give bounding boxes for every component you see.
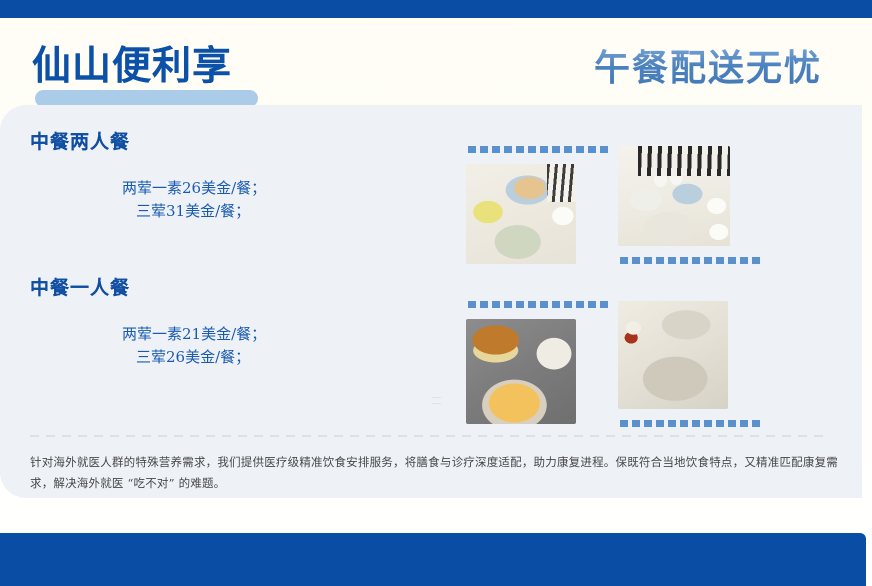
panel-content: 中餐两人餐 两荤一素26美金/餐； 三荤31美金/餐； 中餐一人餐 两荤一素21… [0,105,862,498]
photo-cell-3 [466,301,608,424]
dashed-accent-line [620,420,760,427]
price-line: 三荤26美金/餐； [122,346,266,369]
price-line: 三荤31美金/餐； [122,200,266,223]
brand-title: 仙山便利享 [32,40,232,92]
two-person-meal-photo-1 [466,164,576,264]
photo-cell-2 [618,146,760,264]
content-panel: 中餐两人餐 两荤一素26美金/餐； 三荤31美金/餐； 中餐一人餐 两荤一素21… [0,105,862,498]
price-list: 两荤一素21美金/餐； 三荤26美金/餐； [30,323,266,369]
brand-title-wrap: 仙山便利享 [32,40,232,96]
meal-title: 中餐两人餐 [30,129,266,155]
bottom-accent-bar [0,533,866,586]
meal-title: 中餐一人餐 [30,275,266,301]
panel-footnote: 针对海外就医人群的特殊营养需求，我们提供医疗级精准饮食安排服务，将膳食与诊疗深度… [30,452,838,494]
header-tagline: 午餐配送无忧 [594,44,822,92]
two-person-meal-photo-2 [618,146,730,246]
section-divider [30,435,830,437]
dashed-accent-line [468,146,608,153]
dashed-accent-line [620,257,760,264]
dashed-accent-line [468,301,608,308]
photo-cell-1 [466,146,608,264]
meal-block-two-person: 中餐两人餐 两荤一素26美金/餐； 三荤31美金/餐； [30,129,266,223]
price-list: 两荤一素26美金/餐； 三荤31美金/餐； [30,177,266,223]
photo-cell-4 [618,301,760,427]
slide-root: 仙山便利享 午餐配送无忧 中餐两人餐 两荤一素26美金/餐； 三荤31美金/餐；… [0,0,872,586]
price-line: 两荤一素21美金/餐； [122,323,266,346]
photo-grid [466,105,806,445]
slide-header: 仙山便利享 午餐配送无忧 [0,18,872,105]
one-person-meal-photo-2 [618,301,728,409]
top-accent-bar [0,0,872,18]
one-person-meal-photo-1 [466,319,576,424]
stray-artifact-mark [432,397,441,404]
meal-block-one-person: 中餐一人餐 两荤一素21美金/餐； 三荤26美金/餐； [30,275,266,369]
price-line: 两荤一素26美金/餐； [122,177,266,200]
